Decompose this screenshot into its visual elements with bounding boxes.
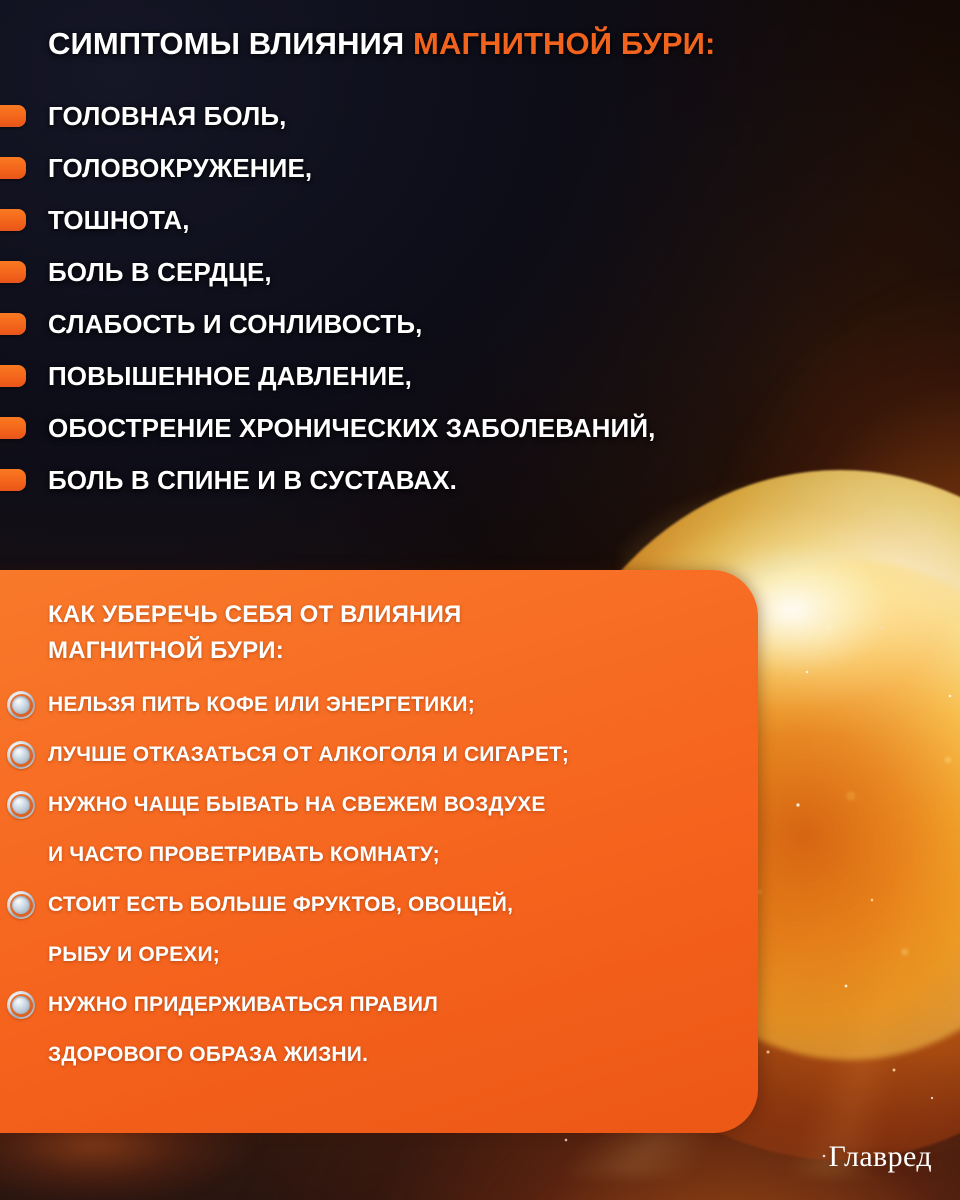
advice-label: ЛУЧШЕ ОТКАЗАТЬСЯ ОТ АЛКОГОЛЯ И СИГАРЕТ; — [48, 732, 569, 778]
symptom-label: ГОЛОВНАЯ БОЛЬ, — [48, 96, 287, 136]
list-item: НУЖНО ЧАЩЕ БЫВАТЬ НА СВЕЖЕМ ВОЗДУХЕ И ЧА… — [0, 782, 758, 882]
advice-line: НУЖНО ПРИДЕРЖИВАТЬСЯ ПРАВИЛ — [0, 982, 758, 1032]
symptom-list: ГОЛОВНАЯ БОЛЬ, ГОЛОВОКРУЖЕНИЕ, ТОШНОТА, … — [0, 96, 960, 512]
watermark-logo: Главред — [828, 1140, 932, 1174]
list-item: ОБОСТРЕНИЕ ХРОНИЧЕСКИХ ЗАБОЛЕВАНИЙ, — [0, 408, 960, 460]
page-title-white: СИМПТОМЫ ВЛИЯНИЯ — [48, 26, 404, 61]
list-item: НУЖНО ПРИДЕРЖИВАТЬСЯ ПРАВИЛ ЗДОРОВОГО ОБ… — [0, 982, 758, 1082]
orange-tab-icon — [0, 365, 26, 387]
symptom-label: ОБОСТРЕНИЕ ХРОНИЧЕСКИХ ЗАБОЛЕВАНИЙ, — [48, 408, 655, 448]
symptom-label: СЛАБОСТЬ И СОНЛИВОСТЬ, — [48, 304, 422, 344]
list-item: ГОЛОВОКРУЖЕНИЕ, — [0, 148, 960, 200]
list-item: НЕЛЬЗЯ ПИТЬ КОФЕ ИЛИ ЭНЕРГЕТИКИ; — [0, 682, 758, 732]
page-title: СИМПТОМЫ ВЛИЯНИЯ МАГНИТНОЙ БУРИ: — [48, 27, 942, 60]
chrome-ring-icon — [7, 691, 35, 719]
advice-heading-line-2: МАГНИТНОЙ БУРИ: — [48, 633, 698, 669]
chrome-ring-icon — [7, 791, 35, 819]
advice-panel: КАК УБЕРЕЧЬ СЕБЯ ОТ ВЛИЯНИЯ МАГНИТНОЙ БУ… — [0, 570, 758, 1133]
advice-label: НЕЛЬЗЯ ПИТЬ КОФЕ ИЛИ ЭНЕРГЕТИКИ; — [48, 682, 475, 728]
chrome-ring-icon — [7, 991, 35, 1019]
orange-tab-icon — [0, 469, 26, 491]
advice-list: НЕЛЬЗЯ ПИТЬ КОФЕ ИЛИ ЭНЕРГЕТИКИ; ЛУЧШЕ О… — [0, 682, 758, 1082]
orange-tab-icon — [0, 105, 26, 127]
infographic-poster: СИМПТОМЫ ВЛИЯНИЯ МАГНИТНОЙ БУРИ: ГОЛОВНА… — [0, 0, 960, 1200]
chrome-ring-icon — [7, 741, 35, 769]
list-item: ГОЛОВНАЯ БОЛЬ, — [0, 96, 960, 148]
advice-label: НУЖНО ПРИДЕРЖИВАТЬСЯ ПРАВИЛ — [48, 982, 438, 1028]
advice-line: НУЖНО ЧАЩЕ БЫВАТЬ НА СВЕЖЕМ ВОЗДУХЕ — [0, 782, 758, 832]
orange-tab-icon — [0, 209, 26, 231]
symptom-label: БОЛЬ В СПИНЕ И В СУСТАВАХ. — [48, 460, 457, 500]
advice-line-continued: ЗДОРОВОГО ОБРАЗА ЖИЗНИ. — [0, 1032, 758, 1082]
list-item: ЛУЧШЕ ОТКАЗАТЬСЯ ОТ АЛКОГОЛЯ И СИГАРЕТ; — [0, 732, 758, 782]
advice-line: НЕЛЬЗЯ ПИТЬ КОФЕ ИЛИ ЭНЕРГЕТИКИ; — [0, 682, 758, 732]
page-title-accent: МАГНИТНОЙ БУРИ: — [413, 26, 715, 61]
list-item: СЛАБОСТЬ И СОНЛИВОСТЬ, — [0, 304, 960, 356]
advice-label-continued: РЫБУ И ОРЕХИ; — [48, 932, 220, 978]
advice-label: СТОИТ ЕСТЬ БОЛЬШЕ ФРУКТОВ, ОВОЩЕЙ, — [48, 882, 513, 928]
chrome-ring-icon — [7, 891, 35, 919]
advice-label: НУЖНО ЧАЩЕ БЫВАТЬ НА СВЕЖЕМ ВОЗДУХЕ — [48, 782, 546, 828]
orange-tab-icon — [0, 417, 26, 439]
advice-label-continued: И ЧАСТО ПРОВЕТРИВАТЬ КОМНАТУ; — [48, 832, 440, 878]
orange-tab-icon — [0, 261, 26, 283]
advice-line: СТОИТ ЕСТЬ БОЛЬШЕ ФРУКТОВ, ОВОЩЕЙ, — [0, 882, 758, 932]
advice-line-continued: РЫБУ И ОРЕХИ; — [0, 932, 758, 982]
symptom-label: ПОВЫШЕННОЕ ДАВЛЕНИЕ, — [48, 356, 412, 396]
symptom-label: ТОШНОТА, — [48, 200, 190, 240]
list-item: БОЛЬ В СПИНЕ И В СУСТАВАХ. — [0, 460, 960, 512]
symptom-label: ГОЛОВОКРУЖЕНИЕ, — [48, 148, 312, 188]
orange-tab-icon — [0, 313, 26, 335]
list-item: СТОИТ ЕСТЬ БОЛЬШЕ ФРУКТОВ, ОВОЩЕЙ, РЫБУ … — [0, 882, 758, 982]
advice-line: ЛУЧШЕ ОТКАЗАТЬСЯ ОТ АЛКОГОЛЯ И СИГАРЕТ; — [0, 732, 758, 782]
advice-label-continued: ЗДОРОВОГО ОБРАЗА ЖИЗНИ. — [48, 1032, 368, 1078]
advice-line-continued: И ЧАСТО ПРОВЕТРИВАТЬ КОМНАТУ; — [0, 832, 758, 882]
list-item: ТОШНОТА, — [0, 200, 960, 252]
list-item: БОЛЬ В СЕРДЦЕ, — [0, 252, 960, 304]
symptom-label: БОЛЬ В СЕРДЦЕ, — [48, 252, 272, 292]
orange-tab-icon — [0, 157, 26, 179]
advice-heading: КАК УБЕРЕЧЬ СЕБЯ ОТ ВЛИЯНИЯ МАГНИТНОЙ БУ… — [48, 597, 698, 669]
list-item: ПОВЫШЕННОЕ ДАВЛЕНИЕ, — [0, 356, 960, 408]
advice-heading-line-1: КАК УБЕРЕЧЬ СЕБЯ ОТ ВЛИЯНИЯ — [48, 597, 698, 633]
